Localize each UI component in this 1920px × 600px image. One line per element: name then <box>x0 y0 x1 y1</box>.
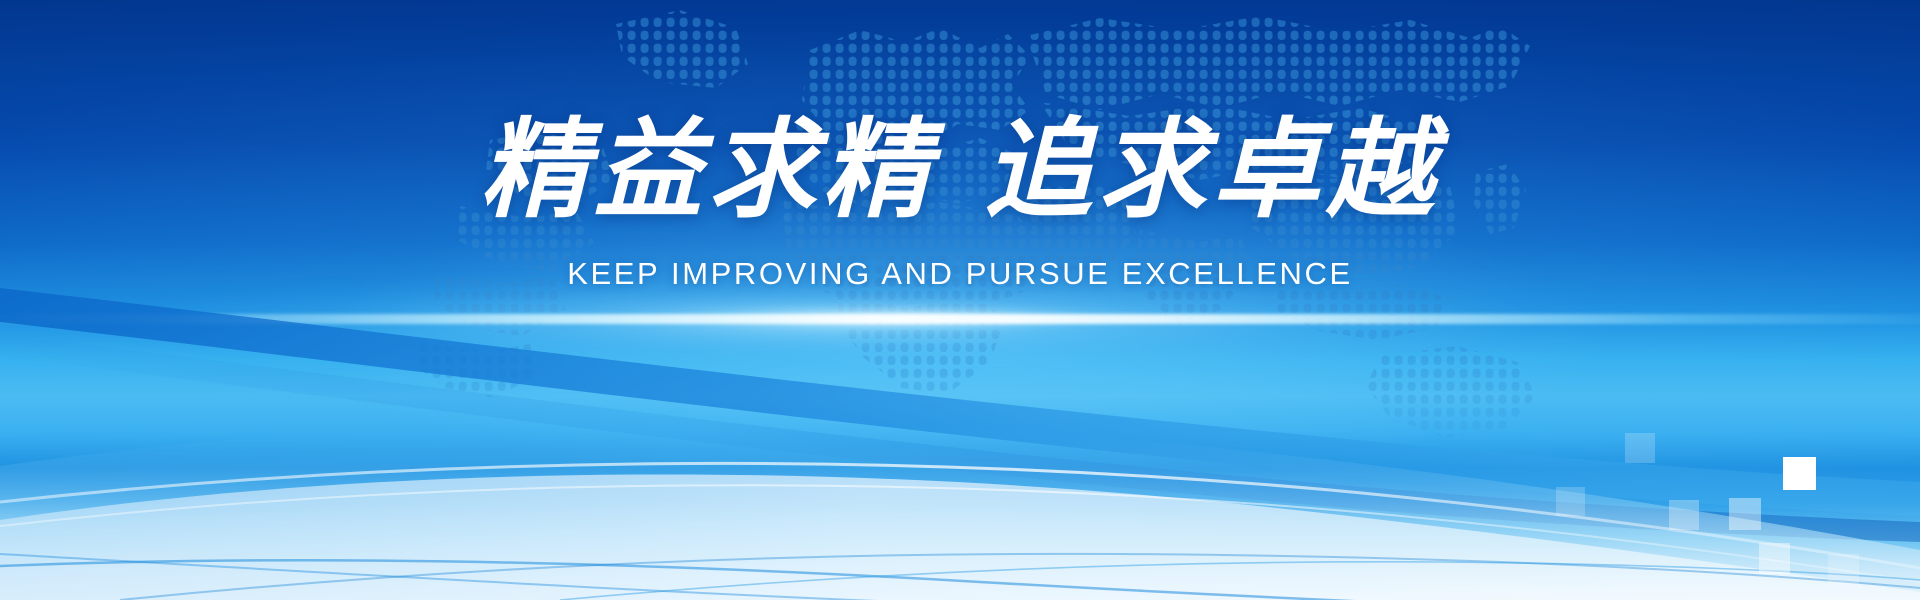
headline-part-2: 追求卓越 <box>984 112 1440 231</box>
decor-square-1 <box>1625 433 1655 463</box>
hero-text-block: 精益求精追求卓越 KEEP IMPROVING AND PURSUE EXCEL… <box>0 0 1920 292</box>
headline-part-1: 精益求精 <box>480 112 936 231</box>
decor-square-3 <box>1669 500 1699 530</box>
page-title: 精益求精追求卓越 <box>0 0 1920 226</box>
decor-square-2 <box>1556 487 1585 516</box>
hero-banner: 精益求精追求卓越 KEEP IMPROVING AND PURSUE EXCEL… <box>0 0 1920 600</box>
decor-square-4 <box>1729 498 1761 530</box>
page-subtitle: KEEP IMPROVING AND PURSUE EXCELLENCE <box>0 226 1920 292</box>
decor-square-6 <box>1759 543 1790 574</box>
decor-square-7 <box>1828 554 1859 585</box>
decor-square-5 <box>1783 457 1816 490</box>
